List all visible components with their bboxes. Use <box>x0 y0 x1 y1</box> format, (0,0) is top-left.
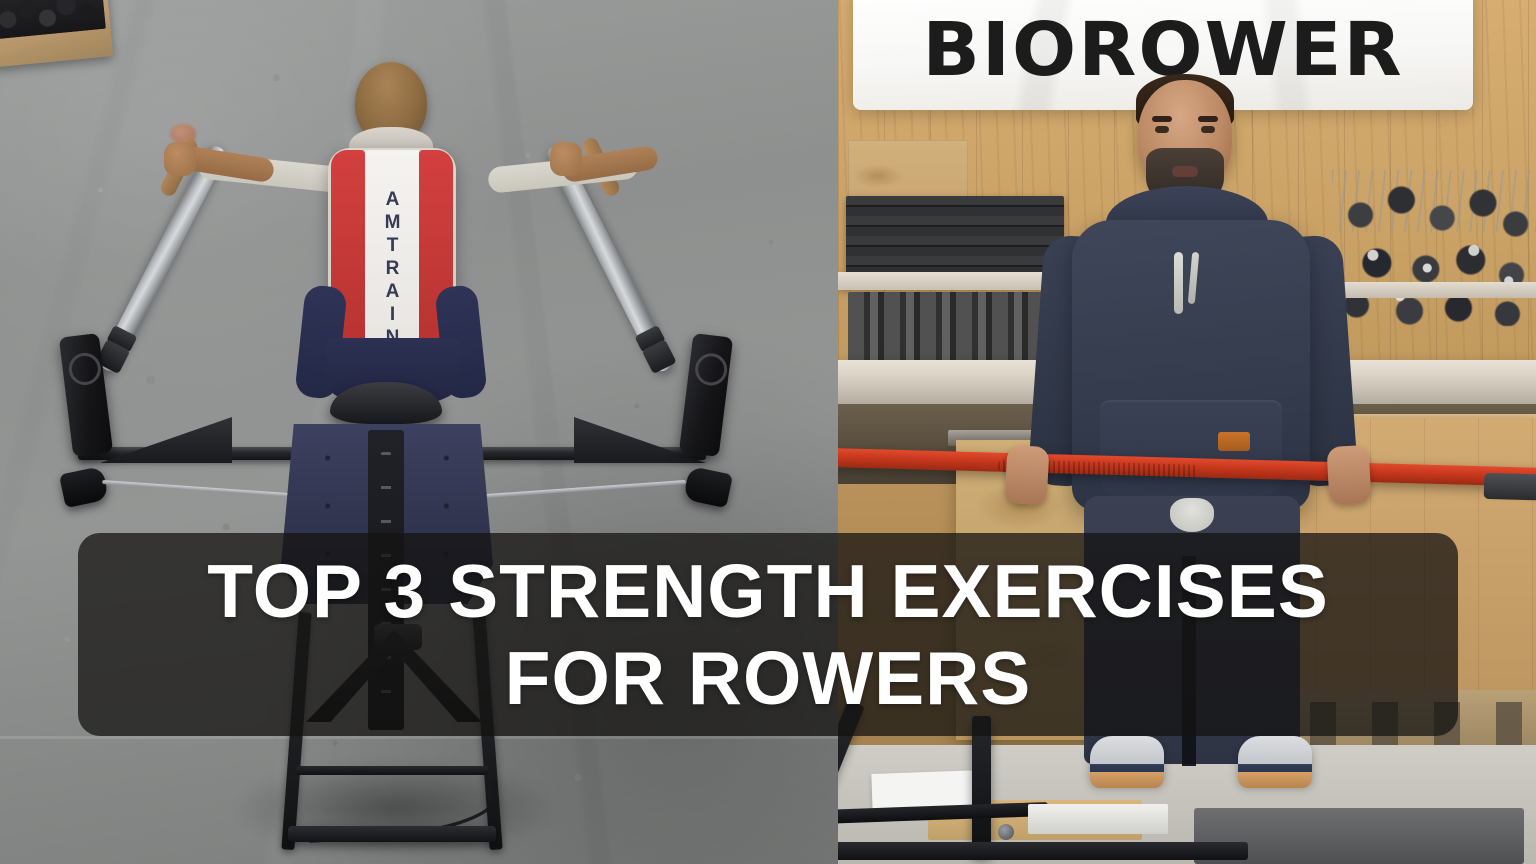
grip-hand-left <box>1005 445 1050 505</box>
part-label-tags <box>1338 236 1532 316</box>
frame-cross-rail <box>296 766 488 775</box>
grip-hand-right <box>1327 445 1372 505</box>
barbell-sleeve-right <box>1484 473 1536 501</box>
eye-right <box>1201 126 1215 133</box>
title-line-1: TOP 3 STRENGTH EXERCISES <box>207 554 1329 629</box>
thumbnail-canvas: ARAMTRAINING BIOROWER <box>0 0 1536 864</box>
hoodie-kangaroo-pocket <box>1100 400 1282 496</box>
foreground-frame-rail-lower <box>838 842 1248 860</box>
shoe-sole-right <box>1238 772 1312 788</box>
sweatpants-waist-tie <box>1170 498 1214 532</box>
foreground-white-plate <box>1028 804 1168 834</box>
shelf-board-right <box>1318 282 1536 298</box>
eyebrow-right <box>1198 116 1218 122</box>
frame-base-bar <box>288 826 496 842</box>
floor-seam-line <box>0 736 838 739</box>
person-mouth <box>1172 166 1198 177</box>
title-line-2: FOR ROWERS <box>505 641 1032 716</box>
hand-right <box>550 142 582 176</box>
hoodie-brand-patch <box>1218 432 1250 451</box>
shoe-sole-left <box>1090 772 1164 788</box>
eye-left <box>1155 126 1169 133</box>
eyebrow-left <box>1152 116 1172 122</box>
foreground-frame-bolt <box>998 824 1014 840</box>
hand-left <box>164 142 196 176</box>
title-overlay-banner: TOP 3 STRENGTH EXERCISES FOR ROWERS <box>78 533 1458 736</box>
foreground-frame-vertical <box>972 716 991 856</box>
steel-stock-stack <box>846 196 1064 276</box>
hoodie-drawstring-left <box>1174 252 1183 314</box>
